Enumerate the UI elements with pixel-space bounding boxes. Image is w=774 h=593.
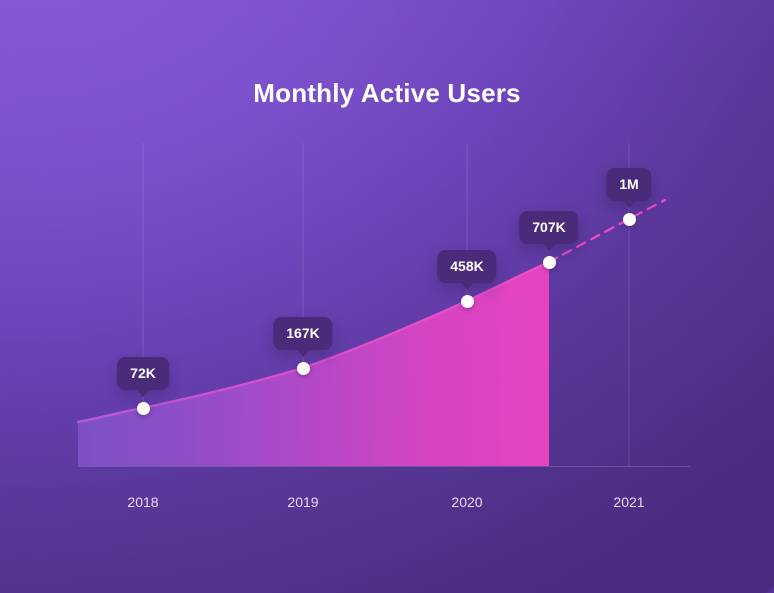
data-label-value: 707K bbox=[532, 219, 565, 235]
x-axis-tick-label: 2020 bbox=[451, 494, 482, 510]
data-point-marker bbox=[623, 213, 636, 226]
data-label-tooltip: 458K bbox=[437, 250, 496, 283]
data-label-value: 167K bbox=[286, 325, 319, 341]
data-label-tooltip: 167K bbox=[273, 317, 332, 350]
data-label-value: 1M bbox=[619, 176, 638, 192]
data-label-tooltip: 1M bbox=[606, 168, 651, 201]
chart-card: Monthly Active Users bbox=[0, 0, 774, 593]
data-point-marker bbox=[461, 295, 474, 308]
data-label-tooltip: 707K bbox=[519, 211, 578, 244]
data-point-marker bbox=[297, 362, 310, 375]
data-label-tooltip: 72K bbox=[117, 357, 169, 390]
x-axis-tick-label: 2018 bbox=[127, 494, 158, 510]
data-label-value: 458K bbox=[450, 258, 483, 274]
x-axis-tick-label: 2019 bbox=[287, 494, 318, 510]
x-axis-tick-label: 2021 bbox=[613, 494, 644, 510]
data-point-marker bbox=[137, 402, 150, 415]
data-label-value: 72K bbox=[130, 365, 156, 381]
chart-title: Monthly Active Users bbox=[0, 78, 774, 109]
data-point-marker bbox=[543, 256, 556, 269]
